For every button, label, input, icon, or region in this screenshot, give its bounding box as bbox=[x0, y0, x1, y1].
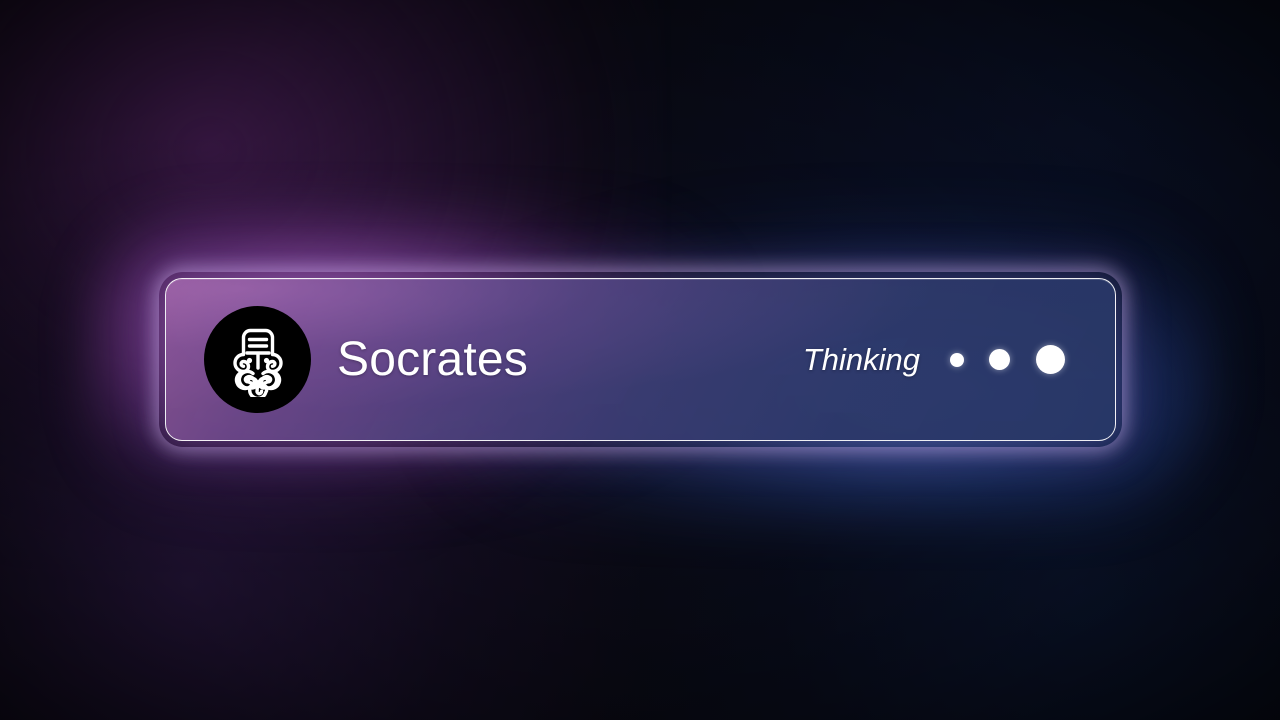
status-indicator: Thinking bbox=[803, 344, 1065, 375]
thinking-dots bbox=[938, 345, 1065, 374]
thinking-dot-3 bbox=[1036, 345, 1065, 374]
thinking-dot-2 bbox=[989, 349, 1010, 370]
agent-status-card-content: Socrates Thinking bbox=[166, 279, 1115, 440]
status-label: Thinking bbox=[803, 344, 920, 375]
agent-name: Socrates bbox=[337, 336, 528, 384]
app-root: Socrates Thinking bbox=[0, 0, 1280, 720]
avatar[interactable] bbox=[204, 306, 311, 413]
socrates-philosopher-icon bbox=[223, 323, 293, 397]
agent-status-card[interactable]: Socrates Thinking bbox=[165, 278, 1116, 441]
thinking-dot-1 bbox=[950, 353, 964, 367]
